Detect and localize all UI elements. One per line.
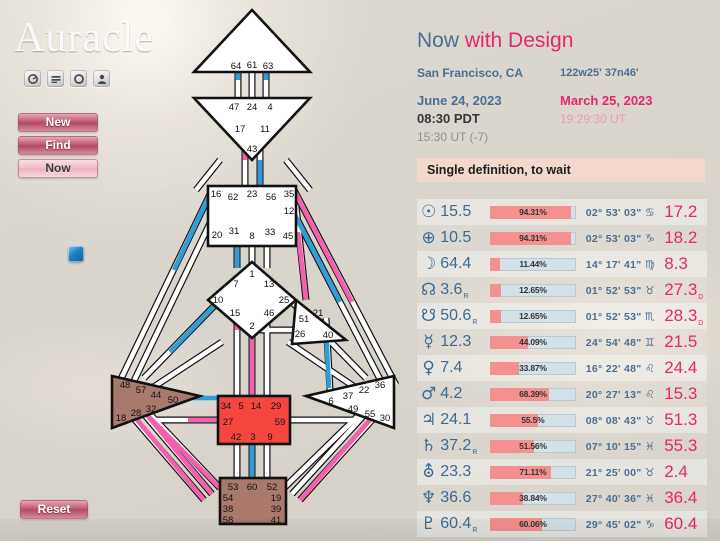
table-row[interactable]: ☿12.344.09%24° 54' 48" ♊21.5	[417, 329, 707, 355]
longitude-label: 14° 17' 41" ♍	[586, 258, 664, 271]
gate-9: 9	[267, 432, 272, 443]
design-gate: 15.3	[664, 384, 707, 404]
table-row[interactable]: ⊕10.594.31%02° 53' 03" ♑18.2	[417, 225, 707, 251]
design-gate: 18.2	[664, 228, 707, 248]
gate-35: 35	[284, 189, 295, 200]
center-sacral[interactable]: 34 5 14 29 27 59 42 3 9	[218, 396, 290, 444]
gate-16: 16	[211, 189, 222, 200]
neptune-icon: ♆	[417, 490, 440, 507]
design-gate: 21.5	[664, 332, 707, 352]
direct-marker: D	[698, 294, 703, 301]
personality-gate: 23.3	[440, 463, 490, 481]
gate-34: 34	[221, 401, 232, 412]
percent-bar: 71.11%	[490, 466, 576, 479]
definition-banner-text: Single definition, to wait	[417, 163, 571, 177]
gate-24: 24	[247, 102, 258, 113]
new-button[interactable]: New	[18, 113, 98, 132]
gate-42: 42	[231, 432, 242, 443]
design-gate: 24.4	[664, 358, 707, 378]
zodiac-sign-icon: ♑	[645, 232, 655, 245]
retrograde-marker: R	[472, 527, 477, 534]
gate-3: 3	[250, 432, 255, 443]
gate-8: 8	[249, 231, 254, 242]
gate-54: 54	[223, 493, 234, 504]
zodiac-sign-icon: ♑	[645, 518, 655, 531]
percent-label: 94.31%	[490, 206, 576, 219]
center-root[interactable]: 53 60 52 54 19 38 39 58 41	[220, 478, 286, 526]
earth-icon: ⊕	[417, 230, 440, 247]
gate-20: 20	[212, 230, 223, 241]
color-swatch[interactable]	[68, 246, 84, 262]
gate-62: 62	[228, 192, 239, 203]
gate-58: 58	[223, 515, 234, 526]
gate-17: 17	[235, 124, 246, 135]
personality-date: June 24, 2023	[417, 93, 502, 108]
list-icon[interactable]	[47, 70, 64, 87]
personality-gate: 50.6R	[440, 307, 490, 325]
zodiac-sign-icon: ♉	[645, 284, 655, 297]
gate-31: 31	[229, 226, 240, 237]
gate-26: 26	[295, 329, 306, 340]
gate-59: 59	[275, 417, 286, 428]
save-icon[interactable]	[24, 70, 41, 87]
gate-30: 30	[380, 413, 391, 424]
gate-25: 25	[279, 295, 290, 306]
center-throat[interactable]: 16 62 23 56 35 12 20 31 8 33 45	[208, 186, 296, 246]
gate-11: 11	[260, 124, 270, 135]
north-node-icon: ☊	[417, 282, 440, 299]
gate-14: 14	[251, 401, 262, 412]
personality-gate: 4.2	[440, 385, 490, 403]
gate-33: 33	[265, 227, 276, 238]
icon-toolbar	[24, 70, 110, 87]
percent-label: 12.65%	[490, 284, 576, 297]
design-gate: 27.3D	[664, 280, 707, 300]
gate-48: 48	[120, 380, 131, 391]
center-heart[interactable]: 51 21 26 40	[292, 300, 346, 344]
table-row[interactable]: ⛢23.371.11%21° 25' 00" ♉2.4	[417, 459, 707, 485]
personality-time: 08:30 PDT	[417, 111, 480, 126]
percent-label: 11.44%	[490, 258, 576, 271]
gate-4: 4	[267, 102, 272, 113]
gate-32: 32	[146, 404, 157, 415]
zodiac-sign-icon: ♌	[645, 362, 655, 375]
sun-icon: ☉	[417, 204, 440, 221]
gate-5: 5	[238, 401, 243, 412]
personality-gate: 60.4R	[440, 515, 490, 533]
gate-23: 23	[247, 189, 258, 200]
gate-13: 13	[264, 279, 275, 290]
table-row[interactable]: ☊3.6R12.65%01° 52' 53" ♉27.3D	[417, 277, 707, 303]
gate-44: 44	[151, 390, 162, 401]
table-row[interactable]: ♀7.433.87%16° 22' 48" ♌24.4	[417, 355, 707, 381]
table-row[interactable]: ♄37.2R51.56%07° 10' 15" ♓55.3	[417, 433, 707, 459]
retrograde-marker: R	[472, 449, 477, 456]
personality-ut: 15:30 UT (-7)	[417, 130, 488, 144]
gate-36: 36	[375, 380, 386, 391]
percent-label: 44.09%	[490, 336, 576, 349]
percent-label: 33.87%	[490, 362, 576, 375]
longitude-label: 01° 52' 53" ♉	[586, 284, 664, 297]
longitude-label: 20° 27' 13" ♌	[586, 388, 664, 401]
gate-38: 38	[223, 504, 234, 515]
personality-gate: 3.6R	[440, 281, 490, 299]
retrograde-marker: R	[472, 319, 477, 326]
gate-43: 43	[247, 144, 258, 155]
percent-bar: 94.31%	[490, 232, 576, 245]
moon-icon: ☽	[417, 256, 440, 273]
personality-gate: 64.4	[440, 255, 490, 273]
gate-60: 60	[247, 482, 258, 493]
definition-banner: Single definition, to wait	[417, 158, 705, 182]
percent-label: 71.11%	[490, 466, 576, 479]
gate-52: 52	[267, 482, 278, 493]
personality-gate: 24.1	[440, 411, 490, 429]
page-title-secondary: with Design	[465, 29, 574, 52]
longitude-label: 02° 53' 03" ♑	[586, 232, 664, 245]
percent-bar: 60.06%	[490, 518, 576, 531]
percent-label: 60.06%	[490, 518, 576, 531]
gate-37: 37	[343, 391, 354, 402]
design-time: 19:29:30 UT	[560, 112, 626, 126]
gate-40: 40	[323, 330, 334, 341]
jupiter-icon: ♃	[417, 412, 440, 429]
design-gate: 36.4	[664, 488, 707, 508]
gate-22: 22	[359, 385, 370, 396]
percent-bar: 94.31%	[490, 206, 576, 219]
percent-bar: 33.87%	[490, 362, 576, 375]
gate-21: 21	[313, 308, 324, 319]
percent-bar: 12.65%	[490, 284, 576, 297]
personality-gate: 36.6	[440, 489, 490, 507]
page-title-primary: Now	[417, 29, 465, 52]
gate-51: 51	[299, 314, 310, 325]
longitude-label: 07° 10' 15" ♓	[586, 440, 664, 453]
longitude-label: 21° 25' 00" ♉	[586, 466, 664, 479]
gate-19: 19	[271, 493, 282, 504]
gate-61: 61	[247, 60, 258, 71]
gate-46: 46	[264, 308, 275, 319]
saturn-icon: ♄	[417, 438, 440, 455]
center-head[interactable]: 64 61 63	[194, 10, 310, 72]
percent-label: 51.56%	[490, 440, 576, 453]
gate-12: 12	[284, 206, 295, 217]
info-panel: Now with Design San Francisco, CA 122w25…	[412, 0, 720, 541]
design-gate: 8.3	[664, 254, 707, 274]
retrograde-marker: R	[463, 293, 468, 300]
venus-icon: ♀	[417, 360, 440, 377]
gate-56: 56	[266, 192, 277, 203]
longitude-label: 29° 45' 02" ♑	[586, 518, 664, 531]
longitude-label: 08° 08' 43" ♉	[586, 414, 664, 427]
now-button[interactable]: Now	[18, 159, 98, 178]
find-button[interactable]: Find	[18, 136, 98, 155]
percent-bar: 68.39%	[490, 388, 576, 401]
gate-10: 10	[213, 295, 224, 306]
longitude-label: 16° 22' 48" ♌	[586, 362, 664, 375]
percent-label: 38.84%	[490, 492, 576, 505]
gate-6: 6	[328, 396, 333, 407]
bodygraph-chart[interactable]: .ch{stroke:#111;stroke-width:7;fill:none…	[100, 0, 405, 541]
personality-gate: 10.5	[440, 229, 490, 247]
location-label: San Francisco, CA	[417, 66, 523, 80]
gate-27: 27	[223, 417, 234, 428]
design-gate: 28.3D	[664, 306, 707, 326]
page-title: Now with Design	[417, 29, 573, 53]
percent-bar: 44.09%	[490, 336, 576, 349]
mercury-icon: ☿	[417, 334, 440, 351]
gate-57: 57	[136, 385, 147, 396]
gate-49: 49	[348, 404, 359, 415]
gate-55: 55	[365, 409, 376, 420]
gate-39: 39	[271, 504, 282, 515]
gate-18: 18	[116, 413, 127, 424]
gate-28: 28	[131, 408, 142, 419]
zodiac-sign-icon: ♓	[645, 440, 655, 453]
gate-53: 53	[228, 482, 239, 493]
design-gate: 60.4	[664, 514, 707, 534]
gate-29: 29	[271, 401, 282, 412]
reset-button[interactable]: Reset	[20, 500, 88, 519]
gate-41: 41	[271, 515, 282, 526]
zodiac-sign-icon: ♍	[645, 258, 655, 271]
application-window: Auracle New Find Now Reset .ch{stroke:#1…	[0, 0, 720, 541]
gate-1: 1	[249, 269, 254, 280]
gate-7: 7	[233, 279, 238, 290]
zodiac-sign-icon: ♋	[645, 206, 655, 219]
percent-label: 12.65%	[490, 310, 576, 323]
table-row[interactable]: ☋50.6R12.65%01° 52' 53" ♏28.3D	[417, 303, 707, 329]
gate-15: 15	[230, 308, 241, 319]
zodiac-sign-icon: ♉	[645, 414, 655, 427]
table-row[interactable]: ♂4.268.39%20° 27' 13" ♌15.3	[417, 381, 707, 407]
longitude-label: 02° 53' 03" ♋	[586, 206, 664, 219]
mars-icon: ♂	[417, 386, 440, 403]
pluto-icon: ♇	[417, 516, 440, 533]
percent-bar: 12.65%	[490, 310, 576, 323]
direct-marker: D	[698, 320, 703, 327]
percent-bar: 11.44%	[490, 258, 576, 271]
zodiac-sign-icon: ♏	[645, 310, 655, 323]
longitude-label: 01° 52' 53" ♏	[586, 310, 664, 323]
table-row[interactable]: ♃24.155.5%08° 08' 43" ♉51.3	[417, 407, 707, 433]
table-row[interactable]: ♆36.638.84%27° 40' 36" ♓36.4	[417, 485, 707, 511]
zodiac-sign-icon: ♉	[645, 466, 655, 479]
zodiac-sign-icon: ♊	[645, 336, 655, 349]
gate-45: 45	[283, 231, 294, 242]
percent-label: 55.5%	[490, 414, 576, 427]
record-icon[interactable]	[70, 70, 87, 87]
personality-gate: 12.3	[440, 333, 490, 351]
table-row[interactable]: ☽64.411.44%14° 17' 41" ♍8.3	[417, 251, 707, 277]
longitude-label: 24° 54' 48" ♊	[586, 336, 664, 349]
table-row[interactable]: ♇60.4R60.06%29° 45' 02" ♑60.4	[417, 511, 707, 537]
percent-label: 94.31%	[490, 232, 576, 245]
percent-bar: 51.56%	[490, 440, 576, 453]
percent-bar: 38.84%	[490, 492, 576, 505]
zodiac-sign-icon: ♓	[645, 492, 655, 505]
south-node-icon: ☋	[417, 308, 440, 325]
personality-gate: 15.5	[440, 203, 490, 221]
design-gate: 2.4	[664, 462, 707, 482]
gate-2: 2	[249, 321, 254, 332]
planetary-table[interactable]: ☉15.594.31%02° 53' 03" ♋17.2⊕10.594.31%0…	[417, 199, 707, 537]
percent-label: 68.39%	[490, 388, 576, 401]
design-gate: 55.3	[664, 436, 707, 456]
design-date: March 25, 2023	[560, 93, 653, 108]
coordinates-label: 122w25' 37n46'	[560, 67, 639, 79]
personality-gate: 7.4	[440, 359, 490, 377]
percent-bar: 55.5%	[490, 414, 576, 427]
table-row[interactable]: ☉15.594.31%02° 53' 03" ♋17.2	[417, 199, 707, 225]
zodiac-sign-icon: ♌	[645, 388, 655, 401]
gate-47: 47	[229, 102, 240, 113]
design-gate: 51.3	[664, 410, 707, 430]
gate-63: 63	[263, 61, 274, 72]
design-gate: 17.2	[664, 202, 707, 222]
gate-50: 50	[168, 395, 179, 406]
gate-64: 64	[231, 61, 242, 72]
center-ajna[interactable]: 47 24 4 17 11 43	[194, 98, 310, 160]
uranus-icon: ⛢	[417, 464, 440, 481]
longitude-label: 27° 40' 36" ♓	[586, 492, 664, 505]
personality-gate: 37.2R	[440, 437, 490, 455]
